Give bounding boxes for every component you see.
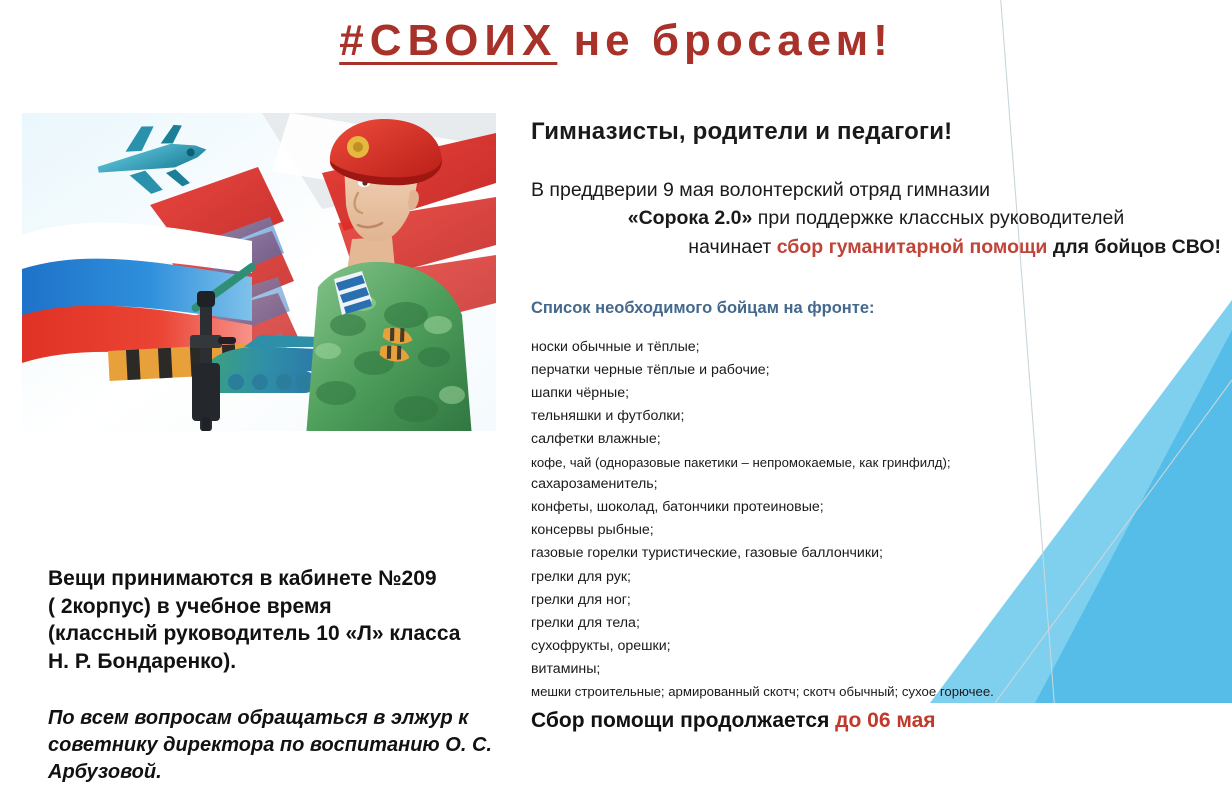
list-item: консервы рыбные; bbox=[531, 519, 1221, 542]
list-item: грелки для тела; bbox=[531, 612, 1221, 635]
right-column: Гимназисты, родители и педагоги! В предд… bbox=[531, 118, 1221, 733]
poster-title-rest: не бросаем! bbox=[574, 16, 893, 65]
pickup-info-line-1: Вещи принимаются в кабинете №209 bbox=[48, 565, 548, 593]
announcement-line-3: начинает сбор гуманитарной помощи для бо… bbox=[531, 233, 1221, 261]
list-item: сухофрукты, орешки; bbox=[531, 635, 1221, 658]
poster-title-hashtag: #СВОИХ bbox=[339, 16, 557, 65]
humanitarian-aid-highlight: сбор гуманитарной помощи bbox=[777, 236, 1048, 258]
announcement-line-1-text: В преддверии 9 мая волонтерский отряд ги… bbox=[531, 179, 990, 201]
list-item: газовые горелки туристические, газовые б… bbox=[531, 542, 1221, 565]
advisor-note: По всем вопросам обращаться в элжур к со… bbox=[48, 705, 548, 785]
deadline-date: до 06 мая bbox=[835, 709, 935, 732]
greeting-heading: Гимназисты, родители и педагоги! bbox=[531, 118, 1221, 146]
poster-title: #СВОИХ не бросаем! bbox=[339, 18, 893, 64]
poster-title-bar: #СВОИХ не бросаем! bbox=[0, 18, 1232, 64]
needs-list: носки обычные и тёплые; перчатки черные … bbox=[531, 336, 1221, 703]
list-item: грелки для ног; bbox=[531, 589, 1221, 612]
announcement-line-3-text-b: для бойцов СВО! bbox=[1047, 236, 1221, 258]
announcement-paragraph: В преддверии 9 мая волонтерский отряд ги… bbox=[531, 176, 1221, 261]
pickup-info-line-4: Н. Р. Бондаренко). bbox=[48, 648, 548, 676]
pickup-info-line-2: ( 2корпус) в учебное время bbox=[48, 593, 548, 621]
announcement-line-1: В преддверии 9 мая волонтерский отряд ги… bbox=[531, 176, 1221, 204]
patriotic-illustration bbox=[22, 113, 496, 431]
deadline-line: Сбор помощи продолжается до 06 мая bbox=[531, 709, 1221, 733]
list-item: мешки строительные; армированный скотч; … bbox=[531, 681, 1221, 703]
pickup-info-block: Вещи принимаются в кабинете №209 ( 2корп… bbox=[48, 565, 548, 676]
list-item: грелки для рук; bbox=[531, 566, 1221, 589]
list-item: шапки чёрные; bbox=[531, 382, 1221, 405]
announcement-line-3-text-a: начинает bbox=[688, 236, 776, 258]
left-column: Вещи принимаются в кабинете №209 ( 2корп… bbox=[22, 113, 500, 431]
pickup-info-line-3: (классный руководитель 10 «Л» класса bbox=[48, 620, 548, 648]
squad-name: «Сорока 2.0» bbox=[628, 207, 753, 229]
list-item: тельняшки и футболки; bbox=[531, 405, 1221, 428]
list-item: витамины; bbox=[531, 658, 1221, 681]
needs-list-heading: Список необходимого бойцам на фронте: bbox=[531, 299, 1221, 318]
list-item: носки обычные и тёплые; bbox=[531, 336, 1221, 359]
announcement-line-2: «Сорока 2.0» при поддержке классных руко… bbox=[531, 204, 1221, 232]
list-item: сахарозаменитель; bbox=[531, 473, 1221, 496]
list-item: салфетки влажные; bbox=[531, 428, 1221, 451]
announcement-line-2-text: при поддержке классных руководителей bbox=[752, 207, 1124, 229]
list-item: конфеты, шоколад, батончики протеиновые; bbox=[531, 496, 1221, 519]
list-item: перчатки черные тёплые и рабочие; bbox=[531, 359, 1221, 382]
deadline-label: Сбор помощи продолжается bbox=[531, 709, 835, 732]
list-item: кофе, чай (одноразовые пакетики – непром… bbox=[531, 452, 1221, 474]
